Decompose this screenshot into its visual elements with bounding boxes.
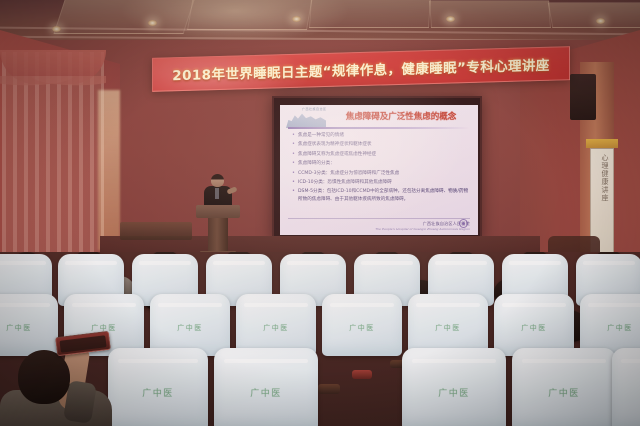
slide-footer: 广西壮族自治区人民医院 The People's Hospital of Gua…: [288, 218, 470, 231]
audience-seat: 广中医: [236, 294, 316, 356]
slide-bullet: DSM-5分类：包括ICD-10和CCMD中的全部病种，还包括分离焦虑障碍、物质…: [292, 188, 470, 202]
slide-bullet: 焦虑障碍又称为焦虑症或焦虑性神经症: [292, 151, 470, 158]
seat-cover-logo: 广中医: [236, 323, 316, 333]
slide-title: 焦虑障碍及广泛性焦虑的概念: [328, 112, 474, 123]
auditorium-photo: 心理健康讲座 2018年世界睡眠日主题“规律作息，健康睡眠”专科心理讲座 广西壮…: [0, 0, 640, 426]
slide-bullet: ICD-10分类：恐惧性焦虑障碍和其他焦虑障碍: [292, 179, 470, 186]
slide-bullet: 焦虑是一种常见的情绪: [292, 132, 470, 139]
ceiling-panel: [309, 0, 431, 28]
slide-bullet: 焦虑症状表现为精神症状和躯体症状: [292, 141, 470, 148]
ceiling-panel: [187, 0, 313, 30]
seat-cover-logo: 广中医: [214, 386, 318, 399]
slide-logo-icon: [286, 110, 326, 128]
slide-title-rule: [288, 127, 470, 129]
seat-cover-logo: 广中医: [402, 386, 506, 399]
ceiling-spotlight: [148, 20, 157, 26]
scroll-banner-rod: [586, 139, 618, 148]
ceiling-spotlight: [596, 18, 605, 24]
slide-bullet-list: 焦虑是一种常见的情绪 焦虑症状表现为精神症状和躯体症状 焦虑障碍又称为焦虑症或焦…: [292, 132, 470, 205]
slide-footer-en: The People's Hospital of Guangxi Zhuang …: [288, 227, 470, 231]
seat-cover-logo: 广中医: [580, 323, 640, 333]
audience-seat: 广中医: [494, 294, 574, 356]
seat-cover-logo: 广中医: [322, 323, 402, 333]
audience-seat: 广中医: [408, 294, 488, 356]
slide-logo-caption: 广西壮族自治区: [302, 107, 327, 111]
event-banner-text: 2018年世界睡眠日主题“规律作息，健康睡眠”专科心理讲座: [172, 54, 549, 85]
ceiling-spotlight: [446, 16, 455, 22]
curtain-valance: [0, 50, 106, 84]
podium-column: [208, 218, 228, 251]
podium-top: [196, 205, 240, 218]
wall-speaker-icon: [570, 74, 596, 120]
seat-cover-logo: 广中医: [408, 323, 488, 333]
audience-seat: [612, 348, 640, 426]
ceiling-spotlight: [52, 26, 61, 32]
slide-bullet: CCMD-3分类：焦虑症分为惊恐障碍和广泛性焦虑: [292, 170, 470, 177]
audience-seat: 广中医: [580, 294, 640, 356]
audience-seat: 广中医: [150, 294, 230, 356]
smartphone-icon: [55, 331, 111, 356]
seat-cover-logo: 广中医: [512, 386, 616, 399]
audience-seat: 广中医: [322, 294, 402, 356]
slide-bullet: 焦虑障碍的分类：: [292, 160, 470, 167]
stage-table: [120, 222, 192, 240]
audience-member-taking-photo: [0, 332, 136, 426]
ceiling-panel: [429, 0, 551, 28]
audience-seat: 广中医: [512, 348, 616, 426]
seat-cover-logo: 广中医: [494, 323, 574, 333]
lecturer-head: [211, 174, 224, 187]
projection-screen: 广西壮族自治区 焦虑障碍及广泛性焦虑的概念 焦虑是一种常见的情绪 焦虑症状表现为…: [280, 105, 478, 235]
slide-seal-icon: [459, 219, 468, 228]
seat-armrest: [318, 384, 340, 394]
ceiling-panel: [548, 2, 640, 28]
lecturer-tie: [215, 188, 219, 199]
projection-screen-frame: 广西壮族自治区 焦虑障碍及广泛性焦虑的概念 焦虑是一种常见的情绪 焦虑症状表现为…: [272, 96, 482, 242]
seat-cover-logo: 广中医: [150, 323, 230, 333]
ceiling-spotlight: [292, 16, 301, 22]
audience-seat: 广中医: [214, 348, 318, 426]
seat-armrest: [352, 370, 372, 379]
audience-seat: 广中医: [402, 348, 506, 426]
photographer-head: [18, 350, 70, 404]
